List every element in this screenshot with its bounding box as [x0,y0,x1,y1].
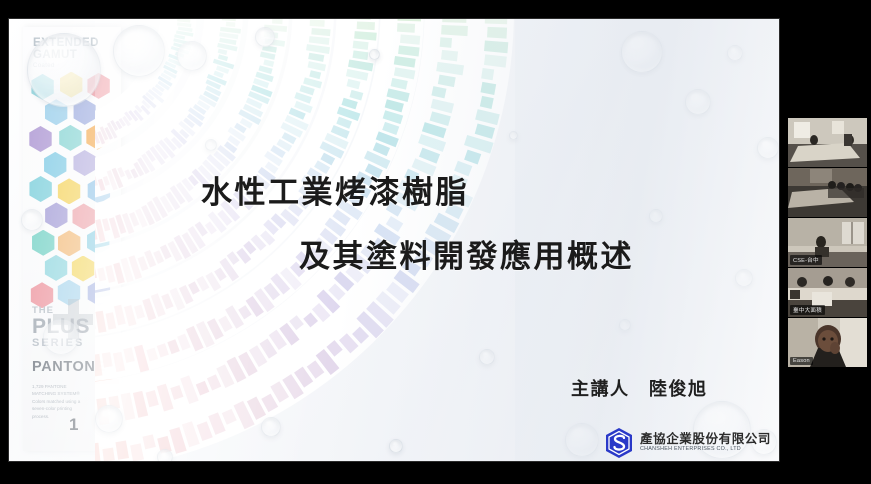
fan-swatch-tick [196,381,210,396]
water-droplet [255,27,275,47]
fan-swatch-tick [203,91,219,102]
fan-swatch-tick [157,384,174,412]
fan-swatch-tick [339,333,359,353]
fan-swatch-tick [134,305,145,319]
fan-swatch-tick [337,106,361,121]
screen-share-stage: EXTENDED GAMUT Coated THE PLUS SERIES PA… [0,0,784,484]
pantone-strip-swatch [95,424,119,429]
fan-swatch-tick [176,30,194,36]
fan-swatch-tick [464,150,481,165]
fan-swatch-tick [312,303,331,322]
fan-swatch-tick [178,121,195,137]
fan-swatch-tick [218,49,228,55]
fan-swatch-tick [475,123,495,138]
fan-swatch-tick [205,221,217,234]
fan-blade-backing [95,19,469,428]
fan-swatch-tick [135,105,143,113]
water-droplet [735,269,753,287]
fan-swatch-tick [303,312,318,327]
fan-swatch-tick [222,409,237,425]
pantone-hexagon [43,202,69,228]
pantone-plus-label: PLUS [32,315,90,339]
fan-swatch-tick [178,27,193,32]
fan-swatch-tick [121,258,134,283]
fan-swatch-tick [264,31,279,38]
pantone-strip-swatch [95,409,119,414]
pantone-brand-label: PANTONE® [32,359,111,375]
fan-swatch-tick [240,118,253,129]
fan-swatch-tick [161,293,173,309]
fan-swatch-tick [270,273,290,294]
water-droplet [261,417,281,437]
participant-thumbnail[interactable]: CSE-台中 [788,218,867,267]
fan-swatch-tick [182,232,199,254]
fan-swatch-tick [238,305,251,319]
fan-swatch-tick [422,122,447,138]
water-droplet [685,89,711,115]
pantone-hexagon [72,99,98,125]
fan-swatch-tick [282,374,304,399]
fan-swatch-tick [157,436,171,454]
fan-swatch-tick [228,127,246,142]
fan-swatch-tick [195,221,208,236]
fan-swatch-tick [394,67,416,79]
fan-swatch-tick [133,110,143,121]
pantone-hexagon [43,99,69,125]
participant-thumbnail[interactable] [788,118,867,167]
fan-swatch-tick [179,129,189,139]
fan-swatch-tick [208,412,225,435]
fan-swatch-tick [147,201,162,222]
fan-swatch-tick [264,283,280,301]
water-droplet [389,439,403,453]
fan-swatch-tick [309,70,321,79]
pantone-body-text: 1,729 PANTONE MATCHING SYSTEM® Colors ma… [32,383,90,420]
fan-swatch-tick [243,241,256,254]
fan-swatch-tick [385,99,404,112]
fan-swatch-tick [141,153,155,172]
fan-swatch-tick [320,141,345,158]
fan-swatch-tick [182,421,200,447]
fan-swatch-tick [197,421,213,441]
participant-thumbnail-list: CSE-台中臺中大面積Eason [788,118,867,367]
fan-swatch-tick [153,250,164,264]
fan-swatch-tick [249,345,267,367]
fan-swatch-tick [480,82,496,95]
fan-swatch-tick [151,293,166,317]
fan-swatch-tick [382,122,399,135]
fan-swatch-tick [165,61,176,69]
fan-swatch-tick [196,321,215,348]
water-droplet [157,449,173,461]
fan-swatch-tick [124,111,132,121]
fan-swatch-tick [285,115,309,131]
fan-swatch-tick [346,79,360,89]
participant-name-label: CSE-台中 [790,255,822,265]
pantone-hexagon [57,125,83,151]
presentation-slide: EXTENDED GAMUT Coated THE PLUS SERIES PA… [9,19,779,461]
fan-swatch-tick [225,305,244,328]
fan-swatch-tick [219,258,239,282]
fan-swatch-tick [354,31,377,40]
fan-swatch-tick [175,52,185,58]
fan-swatch-tick [475,109,500,125]
water-droplet [509,131,518,140]
pantone-registered-mark: ® [106,361,111,367]
fan-swatch-tick [336,117,352,129]
fan-swatch-tick [263,220,279,236]
fan-swatch-tick [128,255,142,279]
pantone-hexagon [30,230,56,256]
fan-swatch-tick [207,318,224,340]
fan-swatch-tick [289,108,306,120]
fan-swatch-tick [155,144,169,160]
pantone-hexagon [85,229,111,255]
fan-swatch-tick [394,56,416,68]
fan-swatch-tick [418,134,446,152]
fan-swatch-tick [346,69,369,81]
fan-swatch-tick [188,175,199,186]
fan-swatch-tick [170,385,183,400]
pantone-series-label: SERIES [32,337,84,349]
fan-swatch-tick [328,283,345,300]
fan-swatch-tick [158,81,170,91]
fan-swatch-tick [133,391,148,418]
fan-swatch-tick [248,91,270,104]
company-logo-block: 產協企業股份有限公司 CHANSHEH ENTERPRISES CO., LTD [604,427,771,459]
pantone-strip-swatch [95,439,119,444]
fan-swatch-tick [431,86,446,98]
fan-swatch-tick [130,168,138,178]
fan-swatch-tick [160,73,171,81]
pantone-hexagon [70,256,96,282]
fan-swatch-tick [355,19,371,20]
fan-swatch-tick [311,28,330,36]
fan-swatch-tick [276,139,292,152]
fan-swatch-tick [217,145,236,162]
fan-swatch-tick [186,326,204,352]
fan-swatch-tick [258,65,272,74]
fan-swatch-tick [160,245,172,260]
fan-swatch-tick [121,393,136,421]
pantone-swatch-strip [95,379,119,449]
fan-swatch-tick [324,133,348,150]
fan-swatch-tick [222,19,236,21]
fan-swatch-tick [142,95,157,109]
fan-swatch-tick [294,92,311,103]
fan-swatch-tick [430,111,451,126]
fan-swatch-tick [243,104,263,118]
fan-swatch-tick [299,85,314,95]
fan-swatch-tick [217,210,232,226]
fan-swatch-tick [280,122,302,138]
fan-swatch-tick [218,54,228,61]
fan-swatch-tick [219,38,236,45]
fan-swatch-tick [373,142,390,156]
fan-swatch-tick [331,125,350,139]
fan-swatch-tick [196,276,209,291]
fan-swatch-tick [144,250,156,268]
pantone-hexagon [86,73,112,99]
fan-swatch-tick [356,311,383,338]
water-droplet [649,209,663,223]
fan-swatch-tick [141,205,155,226]
fan-swatch-tick [309,36,330,45]
fan-swatch-tick [246,296,264,317]
fan-swatch-tick [264,25,287,32]
fan-swatch-tick [316,349,340,375]
fan-swatch-tick [341,98,357,110]
fan-swatch-tick [386,216,403,232]
fan-swatch-tick [398,45,420,56]
pantone-card-heading: EXTENDED GAMUT Coated [33,37,115,69]
fan-swatch-tick [487,27,507,39]
fan-swatch-tick [171,137,183,149]
fan-swatch-tick [254,288,275,312]
pantone-hexagon [86,178,112,204]
fan-swatch-tick [260,338,278,358]
fan-swatch-tick [146,348,158,362]
participant-name-label: 臺中大面積 [790,305,825,315]
fan-swatch-tick [176,182,193,203]
participant-video-feed [788,168,867,217]
fan-swatch-tick [129,212,139,227]
fan-swatch-tick [122,213,134,234]
fan-blade-separator [95,19,474,433]
fan-swatch-tick [349,90,363,101]
fan-swatch-tick [199,94,217,107]
slide-title-line-1: 水性工業烤漆樹脂 [201,167,469,212]
pantone-hexagon [43,255,69,281]
fan-swatch-tick [167,241,182,262]
fan-swatch-tick [264,151,283,166]
fan-swatch-tick [260,52,276,60]
fan-swatch-tick [163,69,176,78]
fan-swatch-tick [383,110,404,124]
fan-swatch-tick [218,316,232,332]
fan-swatch-tick [376,291,401,315]
fan-swatch-tick [128,110,138,121]
fan-swatch-tick [397,19,421,21]
pantone-hexagon [30,74,56,100]
fan-swatch-tick [263,59,274,67]
slide-title-line-2: 及其塗料開發應用概述 [299,231,634,276]
water-droplet [177,41,207,71]
fan-swatch-tick [152,196,168,218]
fan-swatch-tick [146,390,159,407]
fan-swatch-tick [348,59,373,71]
pantone-strip-swatch [95,432,119,437]
fan-swatch-tick [177,22,191,27]
fan-swatch-tick [255,72,273,82]
pantone-hexagon [72,150,98,176]
participant-thumbnail[interactable] [788,168,867,217]
fan-swatch-tick [485,19,508,24]
fan-swatch-tick [307,360,325,378]
fan-swatch-tick [177,334,191,351]
fan-swatch-tick [310,20,325,27]
fan-swatch-tick [216,66,229,74]
fan-swatch-tick [227,251,240,265]
participant-name-label: Eason [790,357,813,365]
fan-swatch-tick [441,25,468,36]
fan-swatch-tick [133,162,144,176]
slide-frame: EXTENDED GAMUT Coated THE PLUS SERIES PA… [8,18,780,462]
fan-swatch-tick [279,323,299,346]
fan-swatch-tick [480,96,494,109]
fan-swatch-tick [317,289,341,313]
fan-swatch-tick [188,107,205,121]
pantone-hexagon [28,126,54,152]
fan-swatch-tick [282,132,297,144]
fan-swatch-tick [155,84,165,92]
fan-swatch-tick [179,285,194,304]
fan-swatch-tick [306,44,330,54]
fan-swatch-tick [146,150,156,162]
fan-swatch-tick [157,343,169,357]
fan-swatch-tick [163,137,176,151]
fan-swatch-tick [141,105,151,115]
slide-speaker-line: 主講人 陸俊旭 [571,375,708,401]
participant-thumbnail[interactable]: Eason [788,318,867,367]
fan-swatch-tick [270,381,289,402]
fan-swatch-tick [419,148,440,164]
fan-blade-separator [95,19,298,257]
fan-swatch-tick [234,123,246,134]
fan-swatch-tick [484,41,508,54]
fan-swatch-tick [141,100,150,109]
fan-swatch-tick [226,22,236,27]
fan-swatch-tick [253,78,269,88]
fan-swatch-tick [188,281,200,294]
fan-swatch-tick [173,38,190,45]
fan-swatch-tick [234,401,255,429]
pantone-strip-swatch [95,394,119,399]
fan-swatch-tick [171,46,190,55]
fan-swatch-tick [441,50,458,62]
company-logo-icon [604,427,634,459]
fan-swatch-tick [167,339,180,354]
fan-swatch-tick [270,145,285,158]
pantone-heading-line3: Coated [33,63,115,69]
fan-swatch-tick [247,397,266,420]
fan-swatch-tick [193,104,206,115]
fan-swatch-tick [294,367,313,388]
fan-swatch-tick [391,78,408,90]
fan-swatch-tick [171,129,188,145]
fan-swatch-tick [260,230,275,245]
fan-swatch-tick [227,357,247,383]
fan-swatch-tick [272,19,283,24]
pantone-hexagon [56,230,82,256]
fan-swatch-tick [208,211,227,233]
water-droplet [727,45,743,61]
fan-swatch-tick [366,301,394,328]
fan-swatch-tick [464,135,494,154]
fan-swatch-tick [163,65,178,74]
fan-swatch-tick [169,288,185,311]
pantone-heading-line1: EXTENDED [33,37,115,49]
fan-swatch-tick [134,345,149,373]
fan-swatch-tick [238,352,258,376]
fan-swatch-tick [251,234,267,250]
pantone-heading-line2: GAMUT [33,49,115,61]
fan-swatch-tick [220,27,241,34]
fan-swatch-tick [138,256,149,271]
fan-swatch-tick [122,116,131,126]
participant-filmstrip[interactable]: CSE-台中臺中大面積Eason [784,0,871,484]
fan-swatch-tick [236,248,251,264]
fan-swatch-tick [386,282,409,303]
pantone-hexagon [71,203,97,229]
fan-swatch-tick [150,146,166,165]
fan-swatch-tick [440,37,452,48]
fan-swatch-tick [224,141,237,153]
fan-swatch-tick [216,364,234,388]
fan-swatch-tick [160,195,173,212]
fan-swatch-tick [197,100,210,111]
water-droplet [369,49,380,60]
pantone-strip-swatch [95,387,119,392]
fan-swatch-tick [123,347,134,362]
fan-swatch-tick [303,77,322,88]
fan-swatch-tick [217,43,237,51]
fan-swatch-tick [130,443,144,461]
pantone-hexagon [85,124,111,150]
fan-blade-backing [95,19,289,248]
fan-swatch-tick [386,88,409,102]
water-droplet [619,319,631,331]
fan-swatch-tick [168,54,180,61]
water-droplet [565,423,599,457]
fan-swatch-tick [181,178,193,191]
water-droplet [757,137,779,159]
fan-swatch-tick [400,34,420,44]
company-logo-text: 產協企業股份有限公司 CHANSHEH ENTERPRISES CO., LTD [640,433,771,453]
fan-swatch-tick [174,34,185,39]
participant-thumbnail[interactable]: 臺中大面積 [788,268,867,317]
fan-swatch-tick [219,32,238,39]
pantone-page-number: 1 [69,415,78,435]
pantone-strip-swatch [95,379,119,384]
fan-swatch-tick [353,41,369,50]
fan-swatch-tick [158,76,173,87]
fan-swatch-tick [137,157,149,174]
video-conference-screen: EXTENDED GAMUT Coated THE PLUS SERIES PA… [0,0,871,484]
fan-swatch-tick [308,61,327,71]
pantone-hexagon [42,152,68,178]
pantone-strip-swatch [95,417,119,422]
fan-swatch-tick [158,140,175,159]
fan-swatch-tick [166,192,181,211]
participant-video-feed [788,118,867,167]
fan-swatch-tick [294,101,313,113]
fan-swatch-tick [168,58,182,66]
fan-swatch-tick [246,97,263,109]
pantone-hexagon-pattern [27,73,117,313]
fan-swatch-tick [238,109,261,125]
fan-swatch-tick [173,42,191,50]
pantone-hexagon [58,72,84,98]
fan-swatch-tick [205,85,221,96]
pantone-hexagon [56,178,82,204]
fan-swatch-tick [213,59,234,70]
fan-swatch-tick [187,113,203,127]
water-droplet [205,139,217,151]
fan-swatch-tick [352,50,368,60]
pantone-guide-card: EXTENDED GAMUT Coated THE PLUS SERIES PA… [23,27,121,451]
fan-swatch-tick [183,118,195,129]
